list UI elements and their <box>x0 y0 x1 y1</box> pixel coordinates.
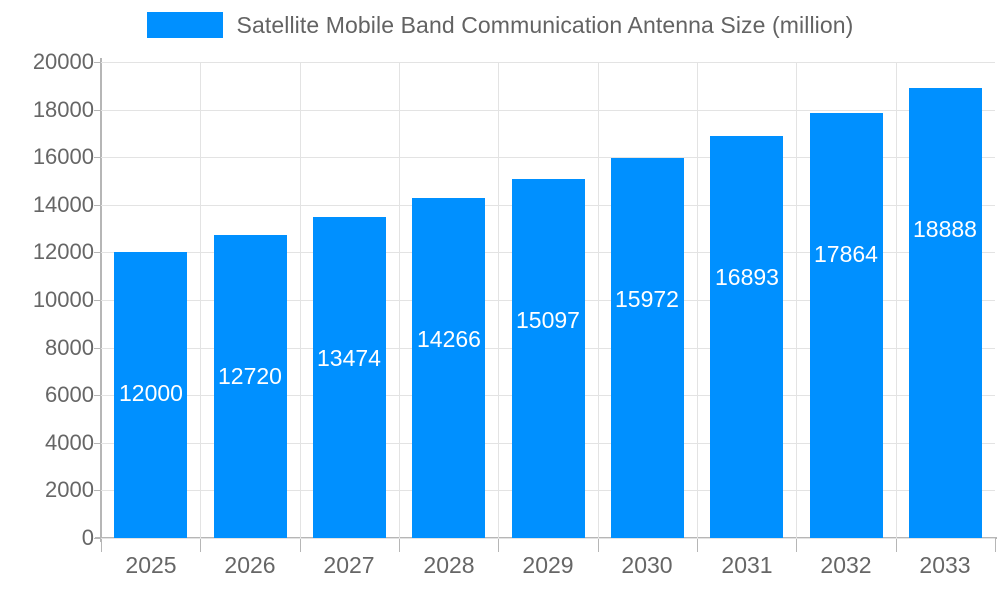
x-axis-tick-label: 2027 <box>300 552 398 579</box>
x-axis-tick-mark <box>598 539 599 552</box>
y-axis-tick-mark <box>94 300 101 301</box>
y-axis-tick-mark <box>94 252 101 253</box>
y-axis-tick-label: 6000 <box>0 382 94 408</box>
x-axis-tick-mark <box>399 539 400 552</box>
bar[interactable] <box>412 198 485 538</box>
x-axis-tick-label: 2033 <box>896 552 994 579</box>
x-axis-tick-label: 2028 <box>400 552 498 579</box>
x-axis-tick-label: 2030 <box>598 552 696 579</box>
y-axis-tick-label: 8000 <box>0 335 94 361</box>
y-axis-tick-mark <box>94 395 101 396</box>
bar[interactable] <box>214 235 287 538</box>
chart-legend: Satellite Mobile Band Communication Ante… <box>0 0 1000 50</box>
x-axis-tick-mark <box>796 539 797 552</box>
gridline-horizontal <box>101 538 995 539</box>
gridline-vertical <box>200 62 201 538</box>
x-axis-tick-mark <box>498 539 499 552</box>
x-axis-tick-mark <box>697 539 698 552</box>
bar[interactable] <box>512 179 585 538</box>
gridline-vertical <box>697 62 698 538</box>
gridline-vertical <box>399 62 400 538</box>
gridline-vertical <box>598 62 599 538</box>
y-axis-tick-label: 4000 <box>0 430 94 456</box>
x-axis-tick-mark <box>995 539 996 552</box>
x-axis-tick-mark <box>896 539 897 552</box>
y-axis-tick-label: 10000 <box>0 287 94 313</box>
gridline-vertical <box>498 62 499 538</box>
y-axis-tick-label: 16000 <box>0 144 94 170</box>
y-axis-tick-mark <box>94 110 101 111</box>
x-axis-tick-mark <box>200 539 201 552</box>
y-axis-tick-mark <box>94 443 101 444</box>
x-axis-tick-mark <box>300 539 301 552</box>
gridline-horizontal <box>101 110 995 111</box>
y-axis-tick-mark <box>94 490 101 491</box>
gridline-vertical <box>300 62 301 538</box>
y-axis-tick-mark <box>94 205 101 206</box>
y-axis-tick-mark <box>94 62 101 63</box>
x-axis-tick-label: 2025 <box>102 552 200 579</box>
bar[interactable] <box>810 113 883 538</box>
bar[interactable] <box>909 88 982 538</box>
y-axis-tick-mark <box>94 538 101 539</box>
bar[interactable] <box>313 217 386 538</box>
x-axis-tick-mark <box>101 539 102 552</box>
y-axis-tick-label: 20000 <box>0 49 94 75</box>
y-axis-tick-mark <box>94 157 101 158</box>
x-axis-tick-label: 2026 <box>201 552 299 579</box>
y-axis-tick-label: 18000 <box>0 97 94 123</box>
legend-color-swatch[interactable] <box>147 12 223 38</box>
y-axis-tick-label: 0 <box>0 525 94 551</box>
x-axis-tick-label: 2029 <box>499 552 597 579</box>
bar[interactable] <box>114 252 187 538</box>
bar-chart: Satellite Mobile Band Communication Ante… <box>0 0 1000 600</box>
gridline-vertical <box>896 62 897 538</box>
y-axis-tick-label: 12000 <box>0 239 94 265</box>
plot-area: 1200012720134741426615097159721689317864… <box>101 62 995 538</box>
y-axis-tick-label: 2000 <box>0 477 94 503</box>
bar[interactable] <box>710 136 783 538</box>
y-axis-tick-mark <box>94 348 101 349</box>
bar[interactable] <box>611 158 684 538</box>
x-axis-tick-label: 2032 <box>797 552 895 579</box>
gridline-horizontal <box>101 62 995 63</box>
legend-series-label[interactable]: Satellite Mobile Band Communication Ante… <box>237 12 854 38</box>
x-axis-tick-label: 2031 <box>698 552 796 579</box>
gridline-vertical <box>796 62 797 538</box>
y-axis-tick-label: 14000 <box>0 192 94 218</box>
